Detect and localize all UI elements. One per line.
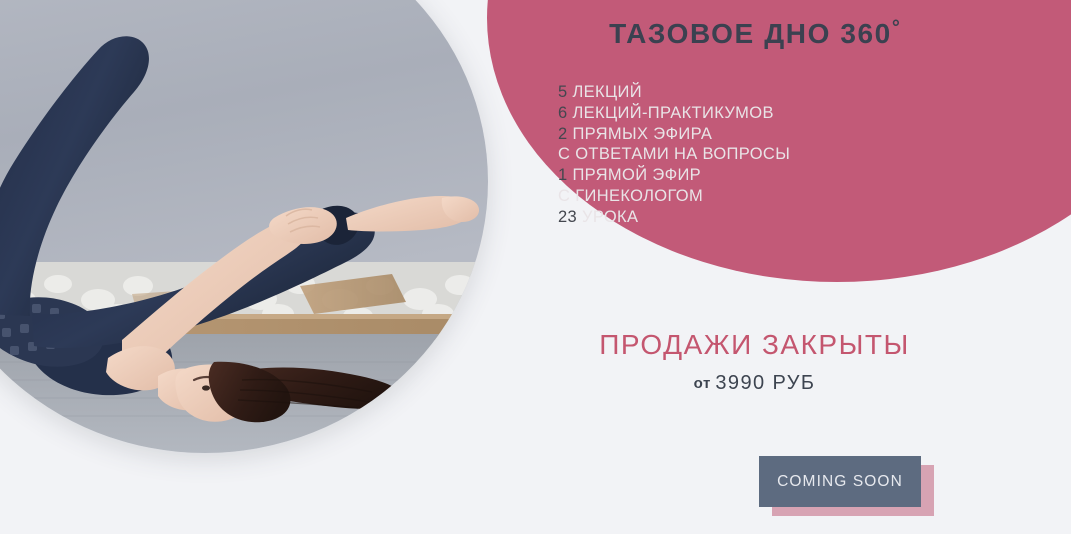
degree-symbol: ° [892,17,900,39]
yoga-pose-photo-icon [0,0,488,453]
list-item: 6 ЛЕКЦИЙ-ПРАКТИКУМОВ [558,103,978,124]
list-item: С ГИНЕКОЛОГОМ [558,186,978,207]
page-title: ТАЗОВОЕ ДНО 360° [500,17,1071,50]
feature-count: 5 [558,83,568,101]
feature-count: 6 [558,104,568,122]
list-item: 2 ПРЯМЫХ ЭФИРА [558,124,978,145]
feature-label: ЛЕКЦИЙ-ПРАКТИКУМОВ [572,104,773,122]
coming-soon-button[interactable]: COMING SOON [759,456,921,507]
cta-container: COMING SOON [759,456,934,516]
feature-label: УРОКА [582,208,638,226]
feature-label: ПРЯМОЙ ЭФИР [572,166,701,184]
price-label: от 3990 РУБ [500,372,1071,395]
feature-label: ПРЯМЫХ ЭФИРА [572,125,712,143]
course-feature-list: 5 ЛЕКЦИЙ 6 ЛЕКЦИЙ-ПРАКТИКУМОВ 2 ПРЯМЫХ Э… [558,82,978,228]
list-item: 5 ЛЕКЦИЙ [558,82,978,103]
feature-count: 1 [558,166,568,184]
feature-count: 23 [558,208,577,226]
feature-label: ЛЕКЦИЙ [572,83,641,101]
promo-banner: ТАЗОВОЕ ДНО 360° 5 ЛЕКЦИЙ 6 ЛЕКЦИЙ-ПРАКТ… [0,0,1071,534]
price-amount: 3990 РУБ [715,372,815,394]
list-item: 23 УРОКА [558,207,978,228]
list-item: С ОТВЕТАМИ НА ВОПРОСЫ [558,144,978,165]
list-item: 1 ПРЯМОЙ ЭФИР [558,165,978,186]
feature-label: С ОТВЕТАМИ НА ВОПРОСЫ [558,145,790,163]
price-prefix: от [694,375,711,392]
status-badge: ПРОДАЖИ ЗАКРЫТЫ [500,329,1071,361]
feature-count: 2 [558,125,568,143]
yoga-photo [0,0,488,453]
page-title-text: ТАЗОВОЕ ДНО 360 [609,18,892,49]
feature-label: С ГИНЕКОЛОГОМ [558,187,703,205]
